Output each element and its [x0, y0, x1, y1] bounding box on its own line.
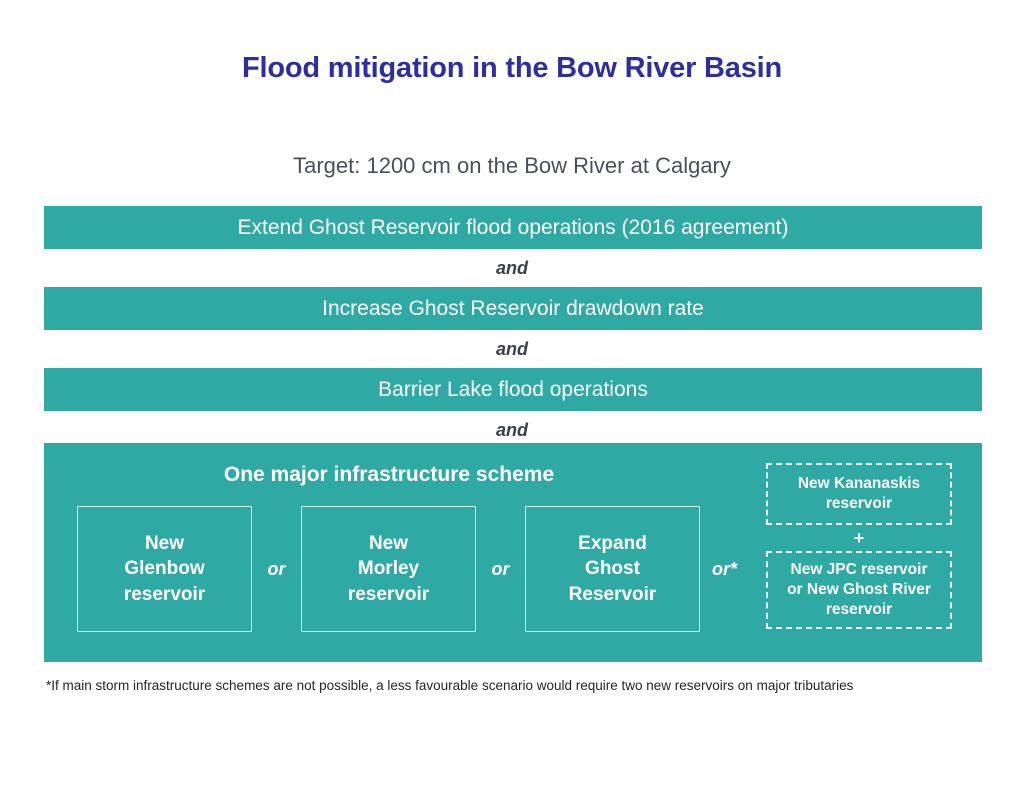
option-box-new-morley-reservoir[interactable]: New Morley reservoir: [301, 506, 476, 632]
measure-bar-barrier-lake-operations: Barrier Lake flood operations: [44, 368, 982, 411]
target-subtitle: Target: 1200 cm on the Bow River at Calg…: [0, 153, 1024, 179]
measure-bar-increase-drawdown-rate: Increase Ghost Reservoir drawdown rate: [44, 287, 982, 330]
fallback-scenario-group: New Kananaskis reservoir + New JPC reser…: [766, 463, 952, 629]
connector-or-asterisk: or*: [700, 559, 749, 580]
connector-and-1: and: [0, 258, 1024, 279]
connector-or-2: or: [476, 559, 525, 580]
page-title: Flood mitigation in the Bow River Basin: [0, 52, 1024, 85]
measure-bar-label: Increase Ghost Reservoir drawdown rate: [322, 298, 704, 319]
measure-bar-extend-ghost-operations: Extend Ghost Reservoir flood operations …: [44, 206, 982, 249]
infographic-canvas: Flood mitigation in the Bow River Basin …: [0, 0, 1024, 794]
fallback-label: New JPC reservoir or New Ghost River res…: [787, 560, 931, 619]
option-label: New Glenbow reservoir: [124, 531, 205, 606]
fallback-box-new-jpc-or-ghost-river-reservoir[interactable]: New JPC reservoir or New Ghost River res…: [766, 551, 952, 629]
option-label: Expand Ghost Reservoir: [569, 531, 657, 606]
fallback-box-new-kananaskis-reservoir[interactable]: New Kananaskis reservoir: [766, 463, 952, 525]
infrastructure-options-row: New Glenbow reservoir or New Morley rese…: [77, 506, 749, 632]
connector-and-2: and: [0, 339, 1024, 360]
option-box-expand-ghost-reservoir[interactable]: Expand Ghost Reservoir: [525, 506, 700, 632]
connector-and-3: and: [0, 420, 1024, 441]
footnote-text: *If main storm infrastructure schemes ar…: [46, 678, 986, 693]
measure-bar-label: Extend Ghost Reservoir flood operations …: [238, 217, 789, 238]
measure-bar-label: Barrier Lake flood operations: [378, 379, 648, 400]
option-label: New Morley reservoir: [348, 531, 429, 606]
option-box-new-glenbow-reservoir[interactable]: New Glenbow reservoir: [77, 506, 252, 632]
fallback-label: New Kananaskis reservoir: [798, 474, 920, 514]
panel-heading: One major infrastructure scheme: [44, 463, 734, 487]
connector-or-1: or: [252, 559, 301, 580]
connector-plus: +: [854, 525, 865, 551]
infrastructure-scheme-panel: One major infrastructure scheme New Glen…: [44, 443, 982, 662]
